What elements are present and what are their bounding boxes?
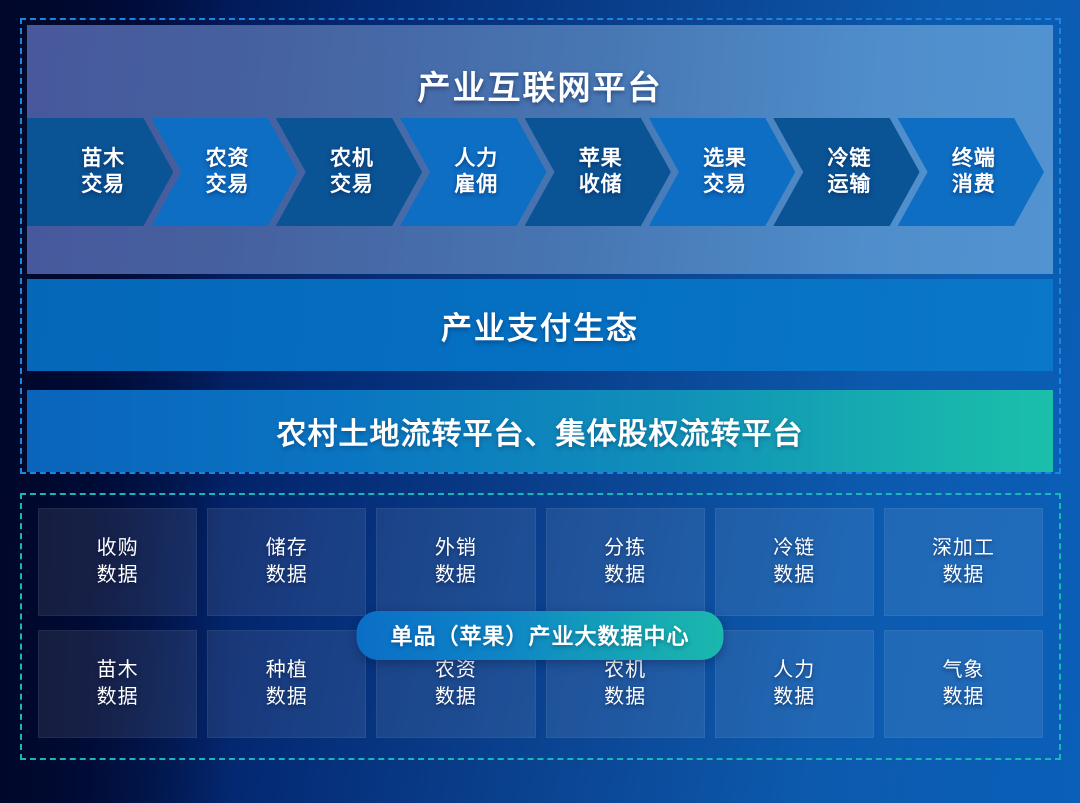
land-transfer-platform-band: 农村土地流转平台、集体股权流转平台 (27, 390, 1053, 472)
payment-ecosystem-title: 产业支付生态 (441, 303, 639, 348)
data-card-chucun[interactable]: 储存数据 (207, 508, 366, 616)
data-card-qixiang[interactable]: 气象数据 (884, 630, 1043, 738)
data-card-label: 深加工数据 (932, 535, 995, 589)
data-card-label: 冷链数据 (773, 535, 815, 589)
data-card-label: 种植数据 (266, 657, 308, 711)
chevron-label: 冷链运输 (821, 146, 871, 197)
data-card-lenglian[interactable]: 冷链数据 (715, 508, 874, 616)
data-card-label: 农资数据 (435, 657, 477, 711)
data-card-label: 农机数据 (604, 657, 646, 711)
data-card-waixiao[interactable]: 外销数据 (376, 508, 535, 616)
chevron-label: 苗木交易 (75, 146, 125, 197)
data-card-label: 储存数据 (266, 535, 308, 589)
data-card-renli[interactable]: 人力数据 (715, 630, 874, 738)
chevron-step-miaomu-jiaoyi[interactable]: 苗木交易 (27, 118, 173, 226)
data-card-shougou[interactable]: 收购数据 (38, 508, 197, 616)
data-card-zhongzhi[interactable]: 种植数据 (207, 630, 366, 738)
chevron-label: 农资交易 (200, 146, 250, 197)
data-card-label: 气象数据 (942, 657, 984, 711)
chevron-label: 农机交易 (324, 146, 374, 197)
diagram-canvas: 产业互联网平台 苗木交易 农资交易 农机交易 人力雇佣 苹果收储 选果交易 冷链… (0, 0, 1080, 803)
data-card-label: 外销数据 (435, 535, 477, 589)
data-card-row-upper: 收购数据 储存数据 外销数据 分拣数据 冷链数据 深加工数据 (38, 508, 1043, 616)
data-card-shenjiagong[interactable]: 深加工数据 (884, 508, 1043, 616)
chevron-label: 苹果收储 (573, 146, 623, 197)
chevron-label: 人力雇佣 (448, 146, 498, 197)
chevron-label: 终端消费 (946, 146, 996, 197)
platform-title: 产业互联网平台 (27, 61, 1053, 109)
data-card-label: 苗木数据 (97, 657, 139, 711)
data-card-label: 人力数据 (773, 657, 815, 711)
big-data-center-pill: 单品（苹果）产业大数据中心 (356, 611, 723, 660)
payment-ecosystem-band: 产业支付生态 (27, 279, 1053, 371)
data-card-fenjian[interactable]: 分拣数据 (546, 508, 705, 616)
chevron-label: 选果交易 (697, 146, 747, 197)
data-card-miaomu[interactable]: 苗木数据 (38, 630, 197, 738)
land-transfer-platform-title: 农村土地流转平台、集体股权流转平台 (277, 409, 804, 453)
data-card-label: 分拣数据 (604, 535, 646, 589)
value-chain-chevron-flow: 苗木交易 农资交易 农机交易 人力雇佣 苹果收储 选果交易 冷链运输 终端消费 (27, 118, 1022, 226)
data-card-label: 收购数据 (97, 535, 139, 589)
